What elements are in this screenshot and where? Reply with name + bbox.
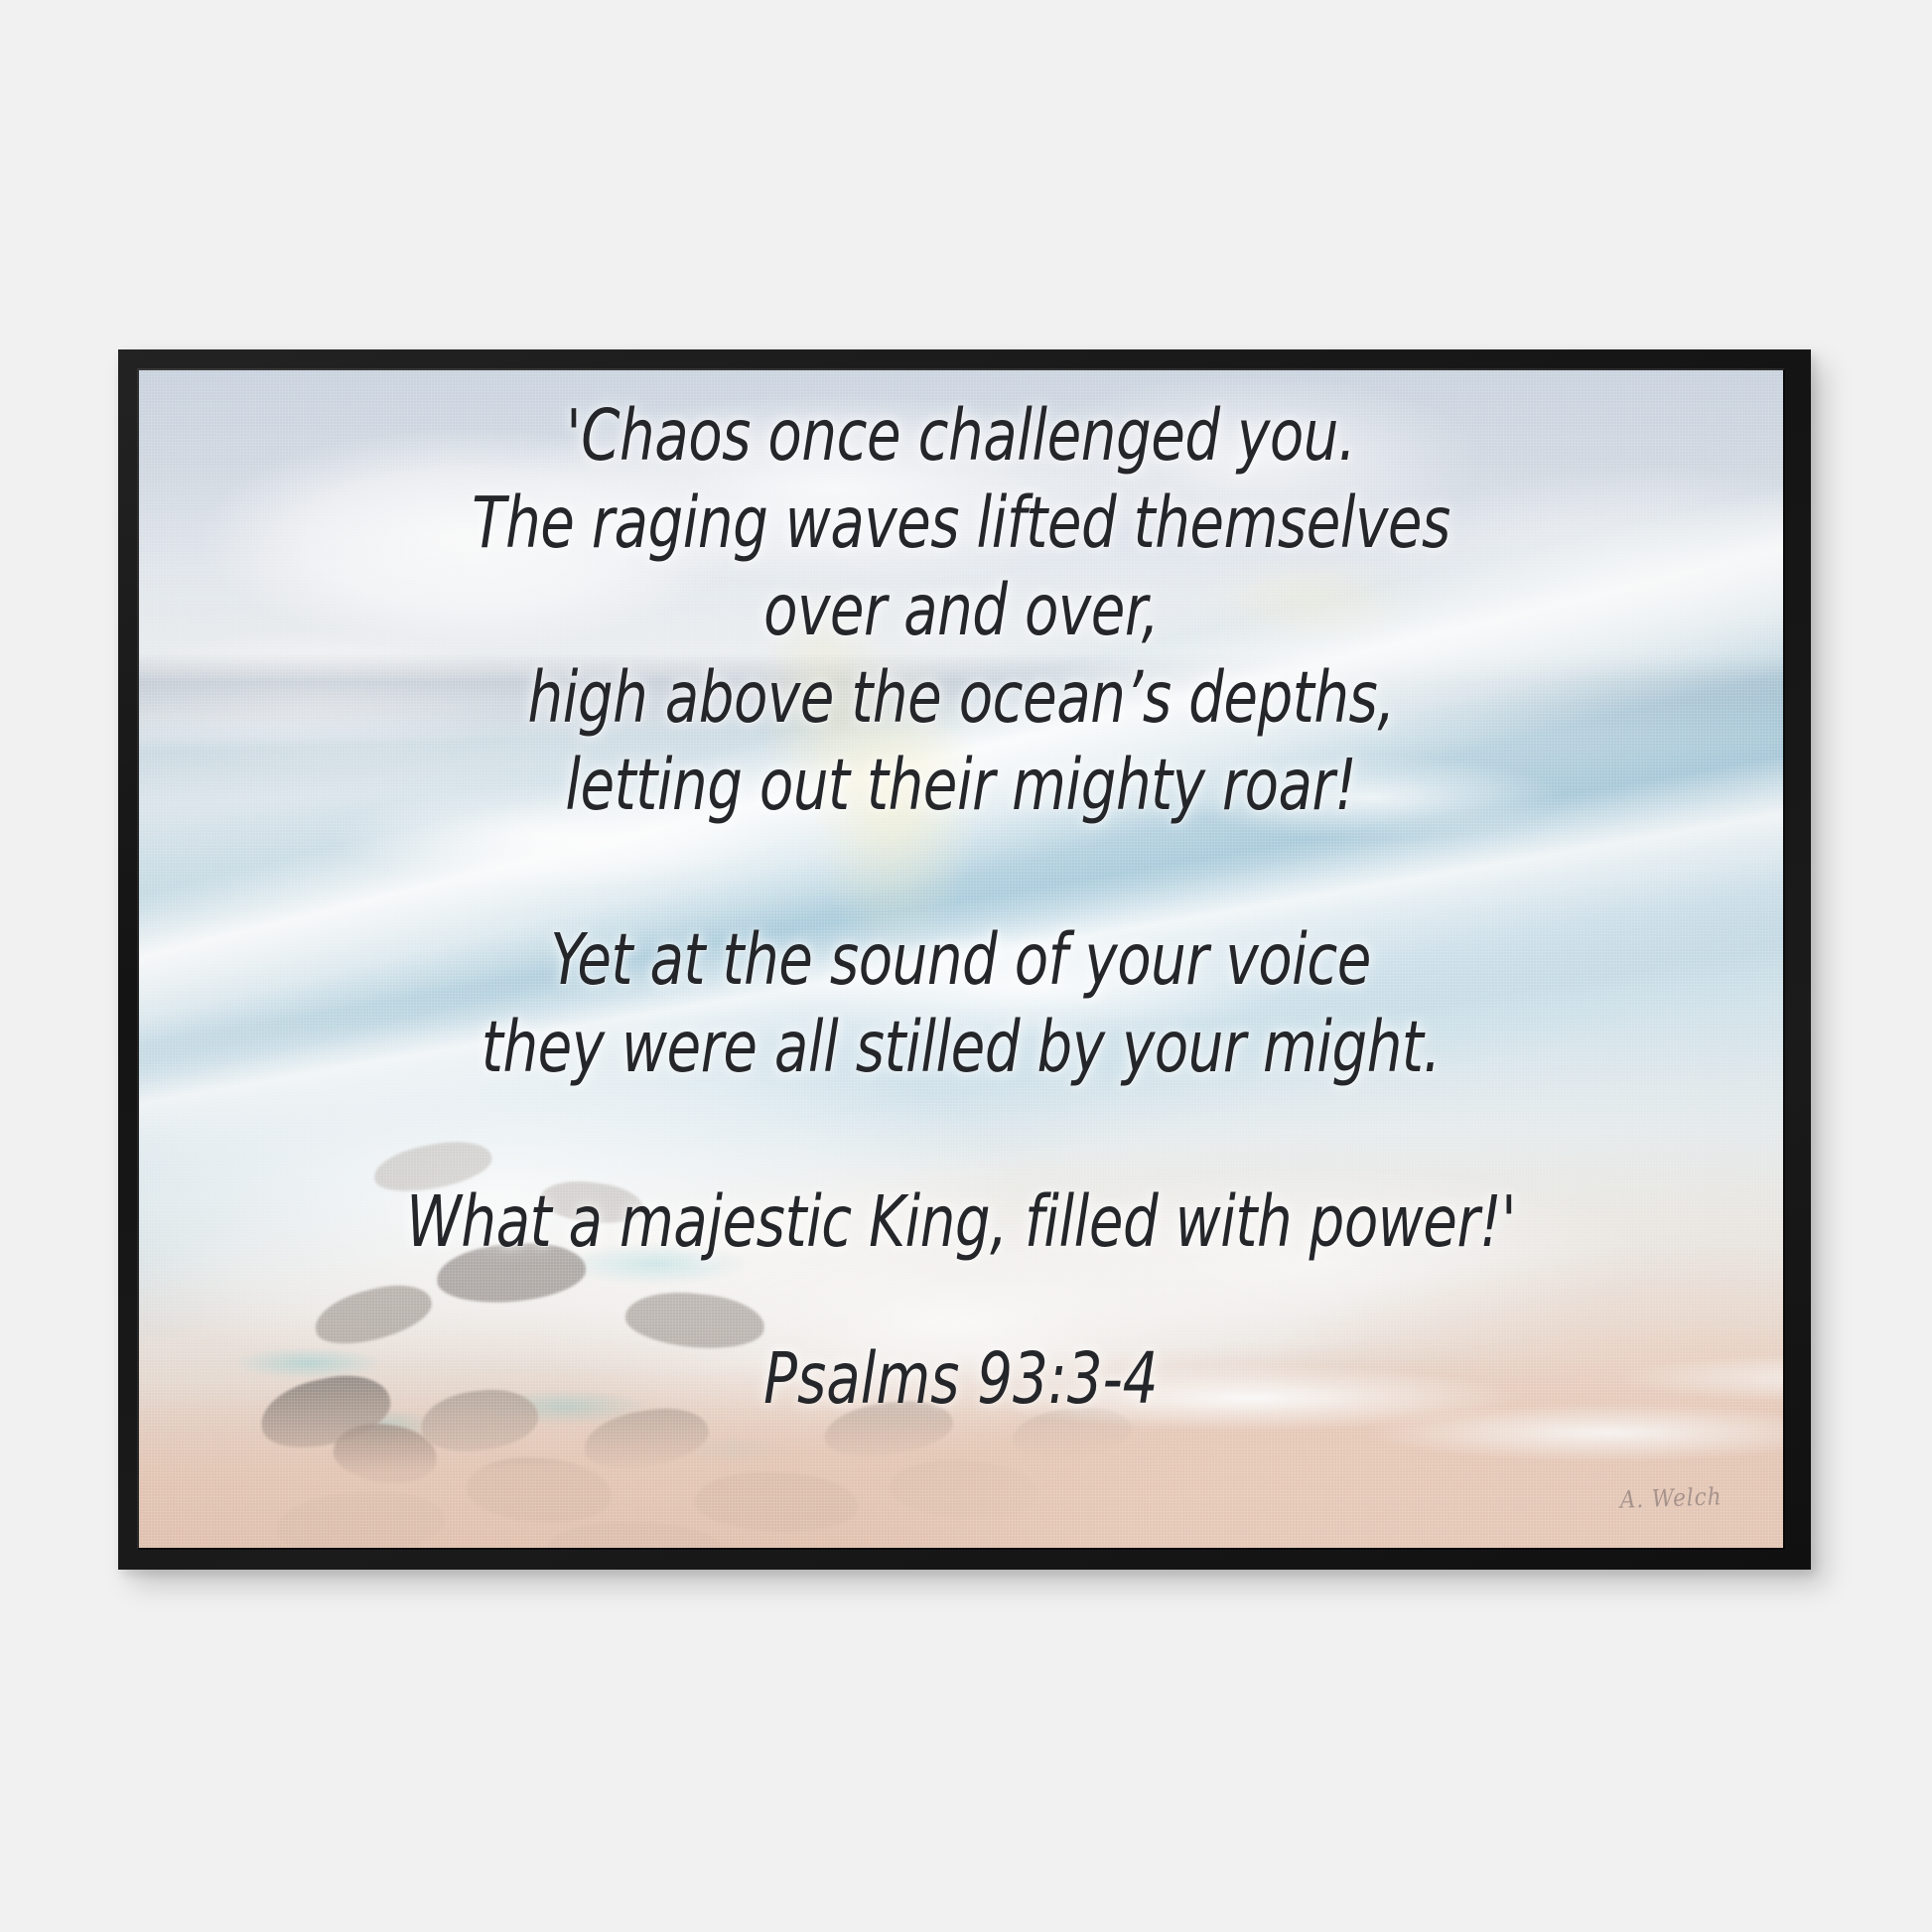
- verse-reference: Psalms 93:3-4: [763, 1335, 1158, 1423]
- verse-line: Yet at the sound of your voice: [551, 916, 1372, 1004]
- verse-line: letting out their mighty roar!: [566, 742, 1357, 829]
- artist-signature: A. Welch: [1619, 1482, 1723, 1514]
- verse-line: they were all stilled by your might.: [482, 1004, 1441, 1091]
- picture-frame: 'Chaos once challenged you. The raging w…: [118, 349, 1811, 1570]
- verse-line: What a majestic King, filled with power!…: [406, 1178, 1516, 1266]
- verse-line: The raging waves lifted themselves: [472, 480, 1450, 567]
- verse-line: high above the ocean’s depths,: [527, 654, 1394, 742]
- verse-text-block: 'Chaos once challenged you. The raging w…: [139, 370, 1783, 1548]
- verse-line: over and over,: [763, 567, 1159, 654]
- page-background: 'Chaos once challenged you. The raging w…: [0, 0, 1932, 1932]
- artwork-canvas: 'Chaos once challenged you. The raging w…: [139, 370, 1783, 1548]
- verse-line: 'Chaos once challenged you.: [566, 392, 1355, 480]
